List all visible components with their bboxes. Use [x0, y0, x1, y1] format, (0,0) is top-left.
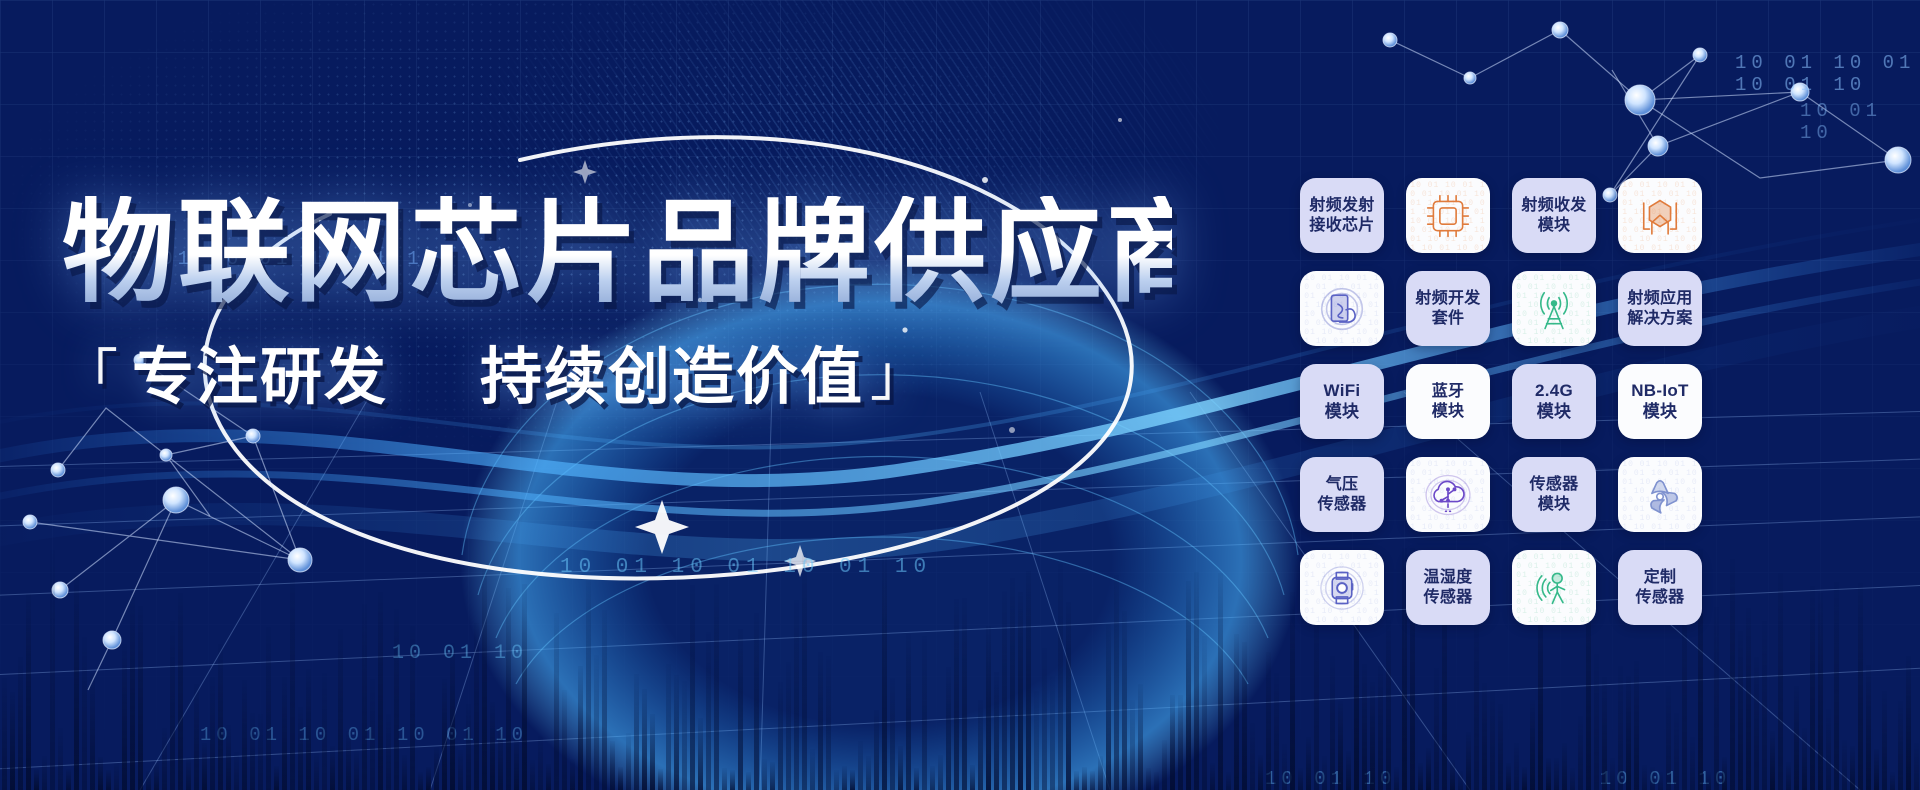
banner-stage: 10 01 10 01 10 01 10 10 01 10 01 10 01 1…	[0, 0, 1920, 790]
subtitle-part-b: 持续创造价值	[480, 326, 864, 416]
tile-label-line1: 射频发射	[1309, 197, 1374, 214]
tile-label-line2: 模块	[1538, 217, 1571, 234]
tile-label-line2: 接收芯片	[1309, 217, 1374, 234]
tile-label: 2.4G模块	[1535, 381, 1573, 422]
tile-label-line1: 射频收发	[1521, 197, 1586, 214]
tile-smart-watch-icon[interactable]: 10 01 10 01 10 01 10 01 10 01 10 01 10 0…	[1300, 550, 1384, 625]
tile-label-line2: 解决方案	[1627, 310, 1692, 327]
tile-text-18[interactable]: 温湿度传感器	[1406, 550, 1490, 625]
tile-label: 射频收发模块	[1521, 196, 1586, 235]
bracket-right-icon: 」	[870, 331, 928, 412]
motion-sensor-person-icon	[1528, 562, 1580, 614]
tile-motion-sensor-person-icon[interactable]: 10 01 10 01 10 01 10 01 10 01 10 01 10 0…	[1512, 550, 1596, 625]
page-title: 物联网芯片品牌供应商	[62, 196, 1172, 310]
chip-icon	[1422, 190, 1474, 242]
tile-radiation-sensor-icon[interactable]: 10 01 10 01 10 01 10 01 10 01 10 01 10 0…	[1618, 457, 1702, 532]
tile-label: 气压传感器	[1318, 475, 1367, 514]
hexagon-hands-icon	[1634, 190, 1686, 242]
smart-watch-icon	[1316, 562, 1368, 614]
tile-hexagon-hands-icon[interactable]: 10 01 10 01 10 01 10 01 10 01 10 01 10 0…	[1618, 178, 1702, 253]
tile-text-20[interactable]: 定制传感器	[1618, 550, 1702, 625]
tile-label-line1: 传感器	[1530, 476, 1579, 493]
tile-signal-tower-icon[interactable]: 10 01 10 01 10 01 10 01 10 01 10 01 10 0…	[1512, 271, 1596, 346]
subtitle-part-a: 专注研发	[132, 326, 388, 416]
product-tile-grid: 射频发射接收芯片10 01 10 01 10 01 10 01 10 01 10…	[1300, 178, 1702, 625]
tile-nfc-touch-phone-icon[interactable]: 10 01 10 01 10 01 10 01 10 01 10 01 10 0…	[1300, 271, 1384, 346]
tile-cloud-circuit-icon[interactable]: 10 01 10 01 10 01 10 01 10 01 10 01 10 0…	[1406, 457, 1490, 532]
tile-text-3[interactable]: 射频收发模块	[1512, 178, 1596, 253]
tile-text-10[interactable]: 蓝牙模块	[1406, 364, 1490, 439]
nfc-touch-phone-icon	[1316, 283, 1368, 335]
subtitle-line: 「 专注研发 持续创造价值 」	[62, 326, 1172, 416]
cloud-circuit-icon	[1422, 469, 1474, 521]
tile-label-line2: 模块	[1643, 402, 1678, 421]
tile-label: WiFi模块	[1324, 381, 1361, 422]
tile-label: 定制传感器	[1636, 568, 1685, 607]
tile-label: 射频开发套件	[1415, 289, 1480, 328]
tile-label: 传感器模块	[1530, 475, 1579, 514]
headline-block: 物联网芯片品牌供应商 「 专注研发 持续创造价值 」	[62, 196, 1172, 416]
tile-label-line2: 模块	[1325, 402, 1360, 421]
tile-label: NB-IoT模块	[1631, 381, 1689, 422]
radiation-sensor-icon	[1634, 469, 1686, 521]
tile-label-line1: 射频开发	[1415, 290, 1480, 307]
tile-text-9[interactable]: WiFi模块	[1300, 364, 1384, 439]
tile-label: 温湿度传感器	[1424, 568, 1473, 607]
tile-label-line1: 2.4G	[1535, 381, 1573, 400]
tile-label-line1: WiFi	[1324, 381, 1361, 400]
tile-text-13[interactable]: 气压传感器	[1300, 457, 1384, 532]
tile-label-line1: 蓝牙	[1432, 383, 1465, 400]
tile-label: 射频应用解决方案	[1627, 289, 1692, 328]
tile-label-line1: 温湿度	[1424, 569, 1473, 586]
tile-label-line2: 套件	[1432, 310, 1465, 327]
tile-label-line2: 模块	[1537, 402, 1572, 421]
tile-label-line2: 模块	[1432, 403, 1465, 420]
tile-label-line2: 传感器	[1636, 589, 1685, 606]
bracket-left-icon: 「	[62, 331, 120, 412]
tile-label-line2: 传感器	[1318, 496, 1367, 513]
tile-label-line1: 气压	[1326, 476, 1359, 493]
tile-text-8[interactable]: 射频应用解决方案	[1618, 271, 1702, 346]
tile-text-1[interactable]: 射频发射接收芯片	[1300, 178, 1384, 253]
tile-label-line1: NB-IoT	[1631, 381, 1689, 400]
tile-text-6[interactable]: 射频开发套件	[1406, 271, 1490, 346]
tile-chip-icon[interactable]: 10 01 10 01 10 01 10 01 10 01 10 01 10 0…	[1406, 178, 1490, 253]
tile-label: 射频发射接收芯片	[1309, 196, 1374, 235]
tile-label-line2: 传感器	[1424, 589, 1473, 606]
tile-label-line1: 定制	[1644, 569, 1677, 586]
tile-text-12[interactable]: NB-IoT模块	[1618, 364, 1702, 439]
tile-label-line1: 射频应用	[1627, 290, 1692, 307]
tile-text-15[interactable]: 传感器模块	[1512, 457, 1596, 532]
signal-tower-icon	[1528, 283, 1580, 335]
tile-text-11[interactable]: 2.4G模块	[1512, 364, 1596, 439]
tile-label: 蓝牙模块	[1432, 382, 1465, 421]
tile-label-line2: 模块	[1538, 496, 1571, 513]
network-nodes-right	[1383, 22, 1911, 202]
